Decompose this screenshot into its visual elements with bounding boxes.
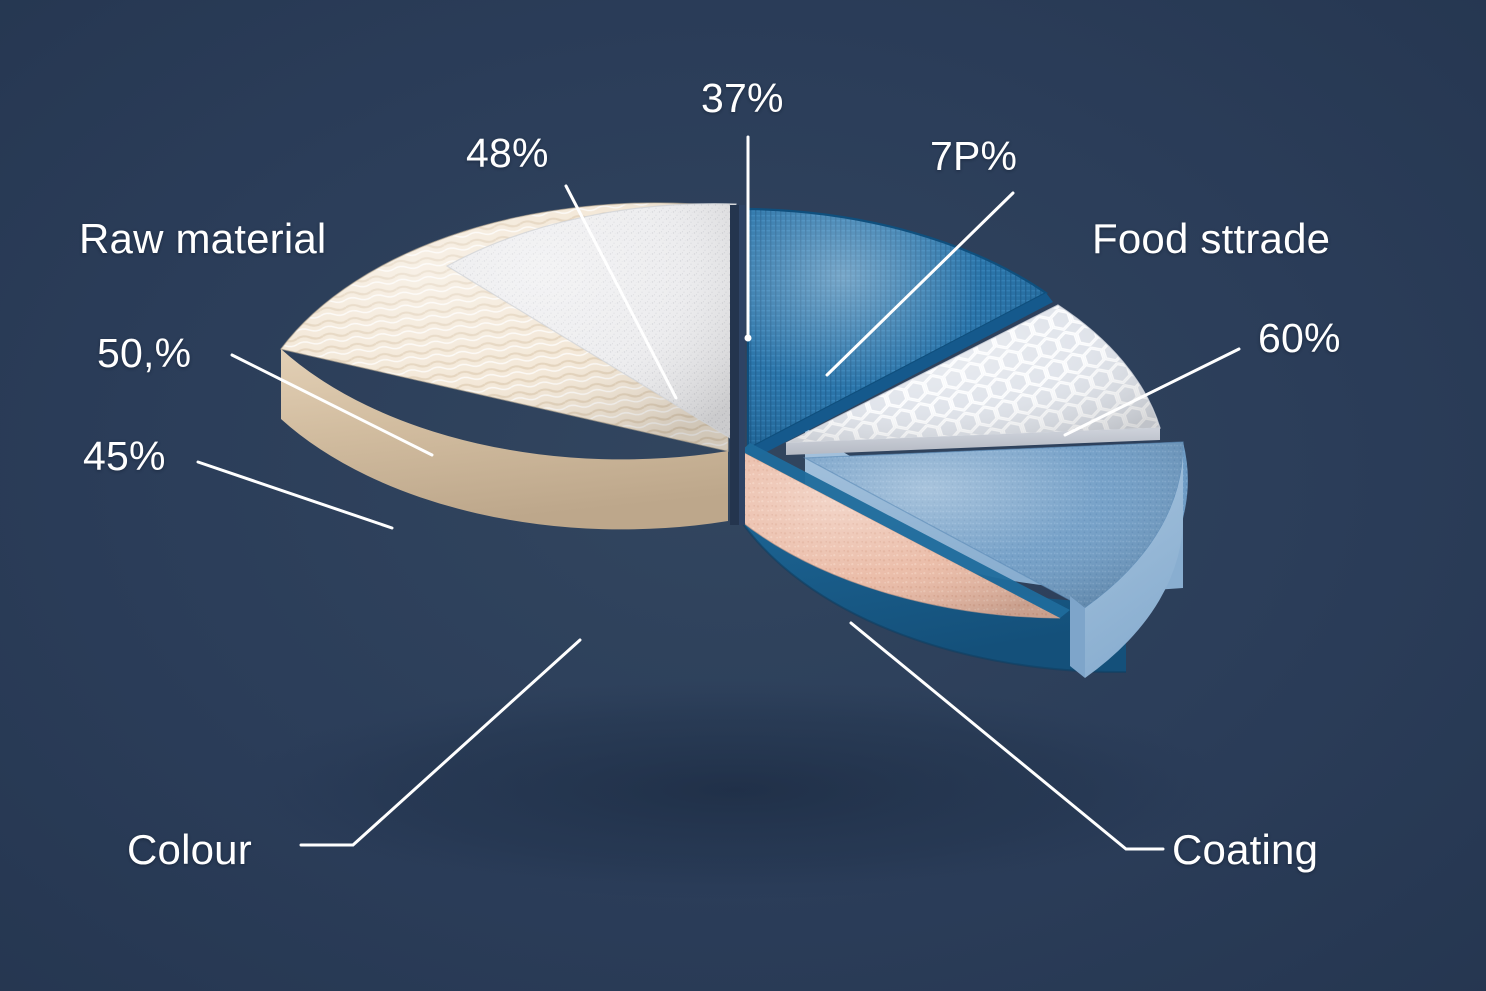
value-label-7p: 7P% [930, 133, 1017, 180]
pie-chart-figure: Raw material Colour Coating Food sttrade… [0, 0, 1486, 991]
value-label-48: 48% [466, 130, 549, 177]
label-coating: Coating [1172, 826, 1318, 874]
slice-light-blue-wall-left [1070, 596, 1085, 678]
pie-ground-shadow [235, 680, 1235, 900]
label-colour: Colour [127, 826, 252, 874]
value-label-45: 45% [83, 433, 166, 480]
value-label-60: 60% [1258, 315, 1341, 362]
value-label-50: 50,% [97, 330, 191, 377]
pie-center-gap-highlight [739, 205, 745, 525]
label-raw-material: Raw material [79, 215, 326, 263]
value-label-37: 37% [701, 75, 784, 122]
label-food-sttrade: Food sttrade [1092, 215, 1330, 263]
